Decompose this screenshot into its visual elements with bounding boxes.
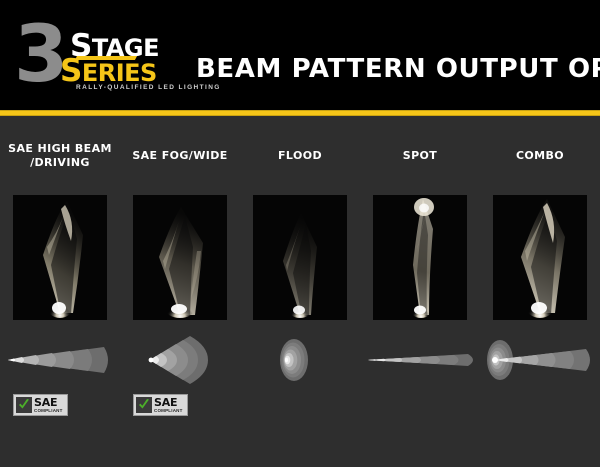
column-combo: COMBO xyxy=(480,116,600,467)
column-sae-fog-wide: SAE FOG/WIDE xyxy=(120,116,240,467)
column-label-line1: SAE HIGH BEAM xyxy=(8,142,112,155)
column-label-line1: FLOOD xyxy=(278,149,322,162)
column-flood: FLOOD xyxy=(240,116,360,467)
logo-word-series: SERIES xyxy=(60,59,157,85)
sae-compliant-badge-fog-wide: SAE COMPLIANT xyxy=(133,394,188,416)
column-spot: SPOT xyxy=(360,116,480,467)
column-label-line1: SAE FOG/WIDE xyxy=(132,149,227,162)
beam-photo-combo xyxy=(493,195,587,320)
column-label-line2: /DRIVING xyxy=(30,156,90,169)
column-label-combo: COMBO xyxy=(480,149,600,163)
sae-badge-text: SAE COMPLIANT xyxy=(152,397,185,414)
stage-series-logo: 3 STAGE SERIES RALLY-QUALIFIED LED LIGHT… xyxy=(14,22,194,94)
sae-badge-sub: COMPLIANT xyxy=(34,409,65,414)
column-label-spot: SPOT xyxy=(360,149,480,163)
header-bar: 3 STAGE SERIES RALLY-QUALIFIED LED LIGHT… xyxy=(0,0,600,110)
check-icon xyxy=(136,397,152,413)
beam-shape-flood xyxy=(240,331,360,389)
beam-shape-combo xyxy=(480,331,600,389)
sae-badge-main: SAE xyxy=(34,397,65,408)
check-icon xyxy=(16,397,32,413)
columns-grid: SAE HIGH BEAM /DRIVING xyxy=(0,116,600,467)
logo-numeral-3: 3 xyxy=(14,16,64,94)
beam-photo-fog-wide xyxy=(133,195,227,320)
sae-badge-text: SAE COMPLIANT xyxy=(32,397,65,414)
beam-shape-fog-wide xyxy=(120,331,240,389)
sae-badge-main: SAE xyxy=(154,397,185,408)
beam-shape-spot xyxy=(360,331,480,389)
column-label-flood: FLOOD xyxy=(240,149,360,163)
column-label-sae-fog-wide: SAE FOG/WIDE xyxy=(120,149,240,163)
logo-tagline: RALLY-QUALIFIED LED LIGHTING xyxy=(76,84,221,91)
column-sae-high-beam-driving: SAE HIGH BEAM /DRIVING xyxy=(0,116,120,467)
page-title: BEAM PATTERN OUTPUT OPTIONS xyxy=(196,54,592,84)
sae-badge-sub: COMPLIANT xyxy=(154,409,185,414)
column-label-line1: COMBO xyxy=(516,149,564,162)
beam-photo-spot xyxy=(373,195,467,320)
beam-shape-driving xyxy=(0,331,120,389)
beam-photo-driving xyxy=(13,195,107,320)
beam-pattern-chart: 3 STAGE SERIES RALLY-QUALIFIED LED LIGHT… xyxy=(0,0,600,467)
logo-series-rest: ERIES xyxy=(82,59,157,87)
sae-compliant-badge-driving: SAE COMPLIANT xyxy=(13,394,68,416)
column-label-line1: SPOT xyxy=(403,149,437,162)
column-label-sae-high-beam-driving: SAE HIGH BEAM /DRIVING xyxy=(0,142,120,170)
beam-photo-flood xyxy=(253,195,347,320)
